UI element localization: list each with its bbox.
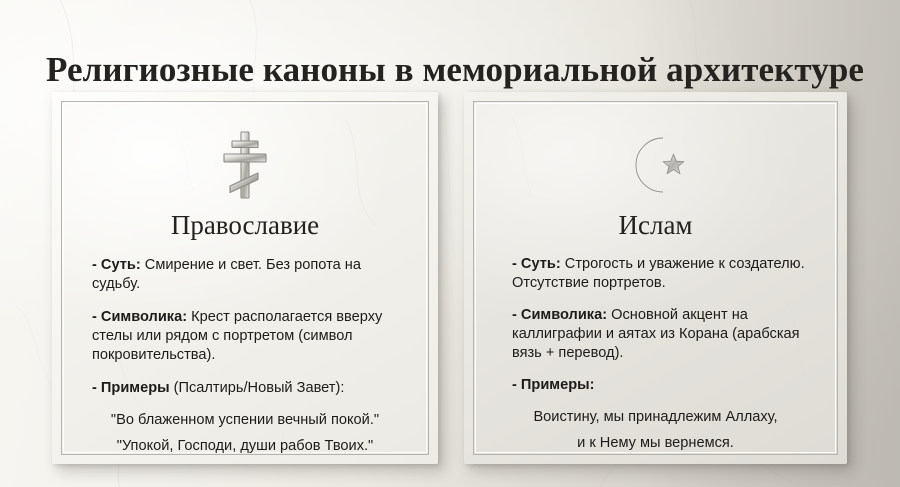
section-lead: - Символика: (92, 309, 187, 325)
plaque-islam: Ислам - Суть: Строгость и уважение к соз… (464, 92, 847, 464)
crescent-star-icon (623, 134, 689, 196)
section-lead: - Примеры: (512, 377, 594, 393)
quote-item: "Упокой, Господи, души рабов Твоих." (78, 434, 412, 455)
plaque-orthodoxy-inner: Православие - Суть: Смирение и свет. Без… (61, 101, 429, 455)
section-essence-islam: - Суть: Строгость и уважение к создателю… (490, 255, 821, 293)
faith-name-orthodoxy: Православие (78, 208, 412, 242)
section-examples-orthodoxy: - Примеры (Псалтирь/Новый Завет): (78, 379, 412, 398)
section-text: (Псалтирь/Новый Завет): (170, 380, 345, 396)
section-examples-islam: - Примеры: (490, 376, 821, 395)
section-essence-orthodoxy: - Суть: Смирение и свет. Без ропота на с… (78, 256, 412, 294)
orthodox-cross-icon (218, 128, 272, 202)
section-lead: - Примеры (92, 380, 170, 396)
faith-name-islam: Ислам (490, 208, 821, 242)
symbol-orthodoxy (78, 126, 412, 204)
quote-list-islam: Воистину, мы принадлежим Аллаху, и к Нем… (490, 405, 821, 455)
quote-list-orthodoxy: "Во блаженном успении вечный покой." "Уп… (78, 408, 412, 455)
plaque-islam-inner: Ислам - Суть: Строгость и уважение к соз… (473, 101, 838, 455)
section-lead: - Суть: (92, 257, 141, 273)
section-symbolism-orthodoxy: - Символика: Крест располагается вверху … (78, 308, 412, 365)
section-lead: - Символика: (512, 307, 607, 323)
quote-item: и к Нему мы вернемся. (490, 431, 821, 455)
plaque-orthodoxy: Православие - Суть: Смирение и свет. Без… (52, 92, 438, 464)
quote-item: "Во блаженном успении вечный покой." (78, 408, 412, 432)
section-lead: - Суть: (512, 256, 561, 272)
slide-canvas: Религиозные каноны в мемориальной архите… (0, 0, 900, 487)
section-symbolism-islam: - Символика: Основной акцент на каллигра… (490, 306, 821, 363)
quote-item: Воистину, мы принадлежим Аллаху, (490, 405, 821, 429)
symbol-islam (490, 126, 821, 204)
page-title: Религиозные каноны в мемориальной архите… (46, 47, 866, 93)
